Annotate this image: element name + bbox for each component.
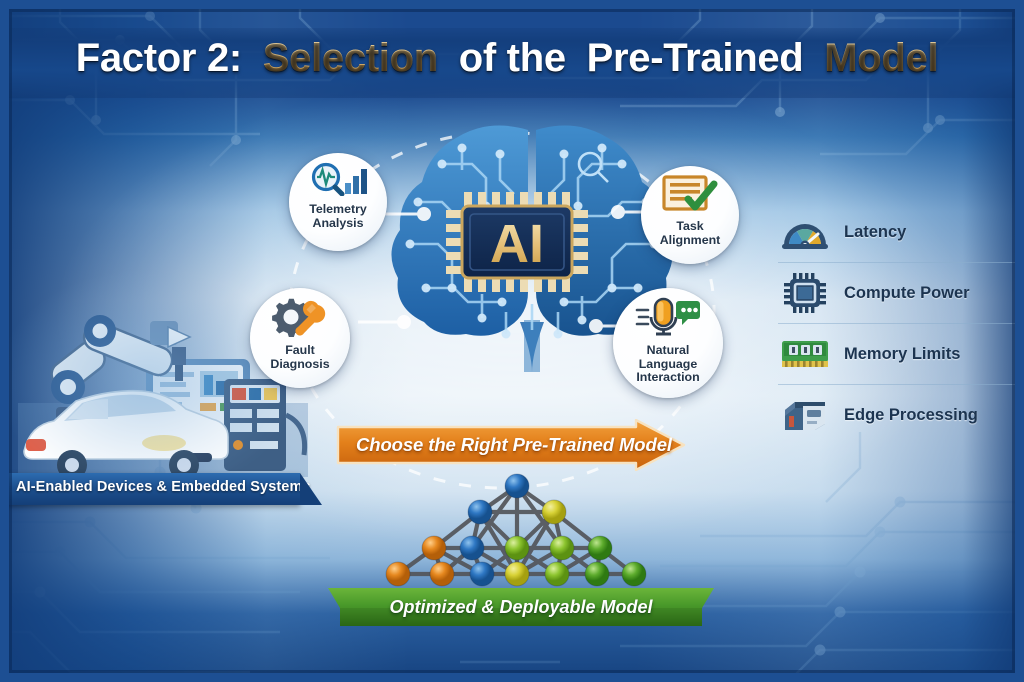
- title-part-pretrained: Pre-Trained: [587, 36, 804, 80]
- title-part-factor: Factor 2:: [76, 36, 242, 80]
- page-title: Factor 2: Selection of the Pre-Trained M…: [0, 36, 1024, 81]
- network-graph: [372, 470, 662, 592]
- title-part-model: Model: [824, 36, 938, 80]
- badge-telemetry-analysis[interactable]: TelemetryAnalysis: [289, 153, 387, 251]
- devices-banner: AI-Enabled Devices & Embedded Systems: [0, 473, 300, 505]
- optimized-model-banner: Optimized & Deployable Model: [328, 588, 714, 626]
- constraint-row-memory-limits[interactable]: Memory Limits: [778, 324, 1018, 385]
- devices-banner-label: AI-Enabled Devices & Embedded Systems: [16, 479, 311, 495]
- badge-label: Natural LanguageInteraction: [613, 344, 723, 385]
- neural-network-pyramid: [372, 470, 662, 592]
- constraint-row-compute-power[interactable]: Compute Power: [778, 263, 1018, 324]
- constraint-label: Latency: [844, 223, 906, 242]
- speedometer-gauge-icon: [778, 215, 832, 249]
- ram-memory-stick-icon: [778, 339, 832, 369]
- magnifier-waveform-barchart-icon: [309, 162, 367, 201]
- ai-chip-label: AI: [490, 214, 544, 274]
- constraint-label: Edge Processing: [844, 406, 978, 425]
- title-part-ofthe: of the: [459, 36, 566, 80]
- gear-wrench-icon: [272, 297, 328, 342]
- green-banner-label: Optimized & Deployable Model: [328, 588, 714, 626]
- title-part-selection: Selection: [263, 36, 438, 80]
- badge-label: TelemetryAnalysis: [305, 203, 371, 230]
- arrow-banner-label: Choose the Right Pre-Trained Model: [356, 419, 672, 471]
- infographic-canvas: Factor 2: Selection of the Pre-Trained M…: [0, 0, 1024, 682]
- checklist-document-check-icon: [662, 175, 718, 218]
- constraints-list: Latency: [778, 202, 1018, 445]
- badge-natural-language-interaction[interactable]: Natural LanguageInteraction: [613, 288, 723, 398]
- badge-label: Task Alignment: [641, 220, 739, 247]
- constraint-row-edge-processing[interactable]: Edge Processing: [778, 385, 1018, 445]
- cpu-chip-icon: [778, 273, 832, 313]
- badge-fault-diagnosis[interactable]: Fault Diagnosis: [250, 288, 350, 388]
- choose-model-arrow-banner: Choose the Right Pre-Trained Model: [336, 419, 686, 471]
- ai-chip: AI: [446, 192, 588, 292]
- badge-task-alignment[interactable]: Task Alignment: [641, 166, 739, 264]
- badge-label: Fault Diagnosis: [250, 344, 350, 371]
- constraint-label: Memory Limits: [844, 345, 960, 364]
- constraint-row-latency[interactable]: Latency: [778, 202, 1018, 263]
- constraint-label: Compute Power: [844, 284, 970, 303]
- microphone-speech-bubble-icon: [635, 297, 701, 342]
- edge-device-icon: [778, 398, 832, 432]
